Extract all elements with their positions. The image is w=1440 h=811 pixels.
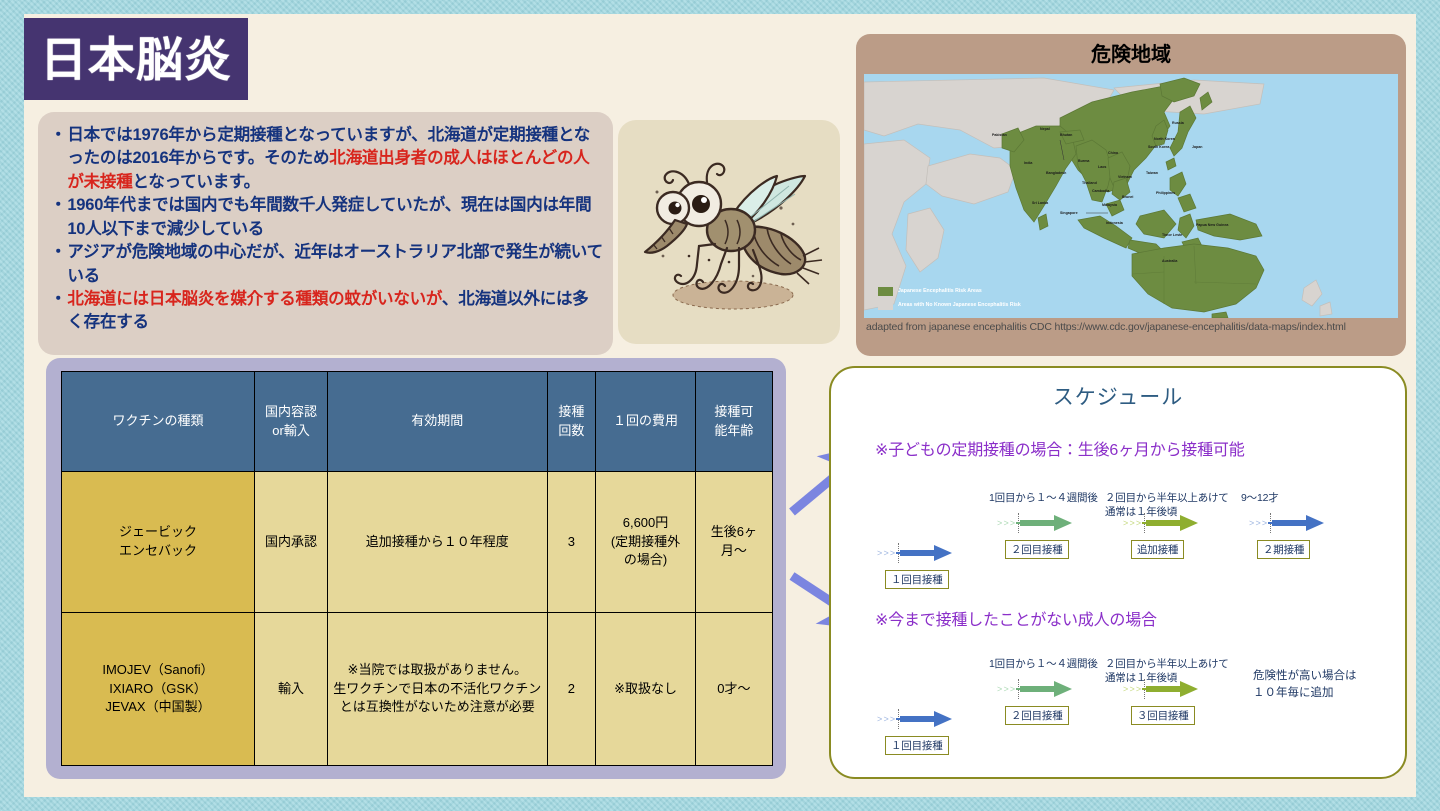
map-label: Bhutan — [1060, 133, 1072, 137]
table-body: ジェービックエンセバック国内承認追加接種から１０年程度36,600円(定期接種外… — [62, 472, 773, 766]
cell-line: IXIARO（GSK） — [65, 680, 251, 699]
map-label: Vietnam — [1118, 175, 1132, 179]
schedule-step-label: 追加接種 — [1131, 540, 1184, 559]
cell-vaccine-name: IMOJEV（Sanofi）IXIARO（GSK）JEVAX（中国製） — [62, 612, 255, 765]
key-fact-text: 1960年代までは国内でも年間数千人発症していたが、現在は国内は年間10人以下ま… — [67, 194, 603, 241]
legend-label-no-risk: Areas with No Known Japanese Encephaliti… — [898, 302, 1021, 308]
schedule-step-box: ３回目接種 — [1123, 706, 1273, 725]
chevron-right-icon: >>> — [1249, 518, 1268, 528]
legend-swatch-no-risk-icon — [878, 301, 893, 310]
chevron-right-icon: >>> — [877, 548, 896, 558]
timeline-tick-icon — [1144, 513, 1145, 533]
legend-label-risk: Japanese Encephalitis Risk Areas — [898, 288, 982, 294]
risk-map-card: 危険地域 — [856, 34, 1406, 356]
map-label: Sri Lanka — [1032, 201, 1049, 205]
timeline-tick-icon — [898, 543, 899, 563]
schedule-step: 9〜12才>>>２期接種 — [1249, 478, 1399, 559]
map-label: Singapore — [1060, 211, 1078, 215]
header-line: 回数 — [551, 422, 593, 441]
cell-line: 3 — [551, 533, 593, 552]
cell-line: エンセバック — [65, 542, 251, 561]
table-column-header: 接種回数 — [547, 372, 596, 472]
map-label: Nepal — [1040, 127, 1050, 131]
chevron-right-icon: >>> — [997, 684, 1016, 694]
map-label: Brunei — [1122, 195, 1133, 199]
schedule-step-box: １回目接種 — [877, 570, 1027, 589]
cell-line: (定期接種外 — [599, 533, 692, 552]
arrow-right-icon — [900, 545, 952, 561]
table-header-row: ワクチンの種類国内容認or輸入有効期間接種回数１回の費用接種可能年齢 — [62, 372, 773, 472]
chevron-right-icon: >>> — [877, 714, 896, 724]
map-label: Taiwan — [1146, 171, 1158, 175]
map-label: North Korea — [1154, 137, 1176, 141]
map-label: Bangladesh — [1046, 171, 1066, 175]
cell-line: 国内承認 — [258, 533, 324, 552]
vaccine-table-panel: ワクチンの種類国内容認or輸入有効期間接種回数１回の費用接種可能年齢 ジェービッ… — [46, 358, 786, 779]
chevron-right-icon: >>> — [997, 518, 1016, 528]
map-label: Papua New Guinea — [1196, 223, 1229, 227]
arrow-right-icon — [1020, 515, 1072, 531]
cell-line: 6,600円 — [599, 514, 692, 533]
cell-approval: 国内承認 — [254, 472, 327, 613]
arrow-right-icon — [1272, 515, 1324, 531]
schedule-step: ２回目から半年以上あけて通常は１年後頃>>>３回目接種 — [1123, 644, 1273, 725]
chevron-right-icon: >>> — [1123, 684, 1142, 694]
cell-duration: 追加接種から１０年程度 — [328, 472, 547, 613]
table-column-header: 有効期間 — [328, 372, 547, 472]
cell-age: 0才〜 — [695, 612, 772, 765]
cell-line: 月〜 — [699, 542, 769, 561]
map-label: Burma — [1078, 159, 1090, 163]
map-label: Australia — [1162, 259, 1178, 263]
key-fact-text: アジアが危険地域の中心だが、近年はオーストラリア北部で発生が続いている — [67, 241, 603, 288]
cell-line: 0才〜 — [699, 680, 769, 699]
note-line: 9〜12才 — [1241, 491, 1407, 505]
map-label: Philippines — [1156, 191, 1175, 195]
table-row: ジェービックエンセバック国内承認追加接種から１０年程度36,600円(定期接種外… — [62, 472, 773, 613]
map-label: Cambodia — [1092, 189, 1110, 193]
adult-schedule-heading: ※今まで接種したことがない成人の場合 — [875, 606, 1157, 630]
risk-map-image: Pakistan Nepal Bhutan India Burma Bangla… — [864, 74, 1398, 318]
map-label: Pakistan — [992, 133, 1007, 137]
cell-line: 輸入 — [258, 680, 324, 699]
key-fact-item: ・日本では1976年から定期接種となっていますが、北海道が定期接種となったのは2… — [50, 124, 603, 194]
table-row: IMOJEV（Sanofi）IXIARO（GSK）JEVAX（中国製）輸入※当院… — [62, 612, 773, 765]
header-line: 国内容認 — [258, 403, 324, 422]
cell-line: 2 — [551, 680, 593, 699]
bullet-marker-icon: ・ — [50, 194, 67, 217]
cell-line: 生後6ヶ — [699, 523, 769, 542]
cell-line: 生ワクチンで日本の不活化ワクチン — [331, 680, 543, 699]
cell-doses: 2 — [547, 612, 596, 765]
header-line: 接種 — [551, 403, 593, 422]
schedule-arrow-row: >>> — [1249, 512, 1399, 534]
schedule-step-label: ２期接種 — [1257, 540, 1310, 559]
cell-line: 追加接種から１０年程度 — [331, 533, 543, 552]
arrow-right-icon — [1146, 515, 1198, 531]
legend-item-risk: Japanese Encephalitis Risk Areas — [878, 287, 1021, 296]
slide-canvas: 日本脳炎 ・日本では1976年から定期接種となっていますが、北海道が定期接種とな… — [24, 14, 1416, 797]
cell-doses: 3 — [547, 472, 596, 613]
schedule-step-label: ２回目接種 — [1005, 540, 1069, 559]
key-fact-item: ・1960年代までは国内でも年間数千人発症していたが、現在は国内は年間10人以下… — [50, 194, 603, 241]
header-line: 接種可 — [699, 403, 769, 422]
child-schedule-heading: ※子どもの定期接種の場合：生後6ヶ月から接種可能 — [875, 436, 1245, 460]
key-fact-item: ・北海道には日本脳炎を媒介する種類の蚊がいないが、北海道以外には多く存在する — [50, 288, 603, 335]
schedule-step-label: ２回目接種 — [1005, 706, 1069, 725]
child-schedule-timeline: >>>１回目接種1回目から１〜４週間後>>>２回目接種２回目から半年以上あけて通… — [831, 478, 1405, 568]
plain-text: アジアが危険地域の中心だが、近年はオーストラリア北部で発生が続いている — [67, 243, 603, 284]
header-line: ワクチンの種類 — [65, 412, 251, 431]
chevron-right-icon: >>> — [1123, 518, 1142, 528]
map-label: Timor Leste — [1162, 233, 1182, 237]
bullet-marker-icon: ・ — [50, 124, 67, 147]
header-line: 能年齢 — [699, 422, 769, 441]
map-label: Russia — [1172, 121, 1185, 125]
bullet-marker-icon: ・ — [50, 288, 67, 311]
schedule-panel: スケジュール ※子どもの定期接種の場合：生後6ヶ月から接種可能 >>>１回目接種… — [829, 366, 1407, 779]
table-header: ワクチンの種類国内容認or輸入有効期間接種回数１回の費用接種可能年齢 — [62, 372, 773, 472]
adult-schedule-timeline: >>>１回目接種1回目から１〜４週間後>>>２回目接種２回目から半年以上あけて通… — [831, 644, 1405, 734]
schedule-step-label: １回目接種 — [885, 736, 949, 755]
timeline-tick-icon — [1018, 513, 1019, 533]
arrow-right-icon — [900, 711, 952, 727]
arrow-right-icon — [1146, 681, 1198, 697]
schedule-title: スケジュール — [831, 368, 1405, 411]
cell-approval: 輸入 — [254, 612, 327, 765]
bullet-marker-icon: ・ — [50, 241, 67, 264]
map-source-caption: adapted from japanese encephalitis CDC h… — [864, 318, 1398, 333]
cell-line: ジェービック — [65, 523, 251, 542]
key-fact-text: 日本では1976年から定期接種となっていますが、北海道が定期接種となったのは20… — [67, 124, 603, 194]
timeline-tick-icon — [1018, 679, 1019, 699]
timeline-tick-icon — [1270, 513, 1271, 533]
map-label: Malaysia — [1102, 203, 1118, 207]
highlighted-text: 北海道には日本脳炎を媒介する種類の蚊がいないが — [67, 290, 442, 308]
header-line: or輸入 — [258, 422, 324, 441]
cell-line: とは互換性がないため注意が必要 — [331, 698, 543, 717]
legend-swatch-risk-icon — [878, 287, 893, 296]
mosquito-icon — [629, 132, 829, 332]
table-column-header: １回の費用 — [596, 372, 696, 472]
table-column-header: ワクチンの種類 — [62, 372, 255, 472]
map-label: Laos — [1098, 165, 1106, 169]
page-title: 日本脳炎 — [40, 36, 232, 83]
tail-note-line: １０年毎に追加 — [1253, 685, 1357, 702]
cell-vaccine-name: ジェービックエンセバック — [62, 472, 255, 613]
page-title-banner: 日本脳炎 — [24, 18, 248, 100]
legend-item-no-risk: Areas with No Known Japanese Encephaliti… — [878, 301, 1021, 310]
vaccine-table: ワクチンの種類国内容認or輸入有効期間接種回数１回の費用接種可能年齢 ジェービッ… — [61, 371, 773, 766]
cell-duration: ※当院では取扱がありません。生ワクチンで日本の不活化ワクチンとは互換性がないため… — [328, 612, 547, 765]
schedule-arrow-row: >>> — [1123, 678, 1273, 700]
key-facts-panel: ・日本では1976年から定期接種となっていますが、北海道が定期接種となったのは2… — [38, 112, 613, 355]
map-title: 危険地域 — [864, 40, 1398, 74]
schedule-step-box: １回目接種 — [877, 736, 1027, 755]
cell-line: の場合) — [599, 551, 692, 570]
schedule-tail-note: 危険性が高い場合は１０年毎に追加 — [1253, 668, 1357, 703]
timeline-tick-icon — [1144, 679, 1145, 699]
cell-cost: ※取扱なし — [596, 612, 696, 765]
table-column-header: 接種可能年齢 — [695, 372, 772, 472]
map-label: Indonesia — [1106, 221, 1124, 225]
mosquito-illustration-card — [618, 120, 840, 344]
map-label: Thailand — [1082, 181, 1097, 185]
cell-age: 生後6ヶ月〜 — [695, 472, 772, 613]
header-line: 有効期間 — [331, 412, 543, 431]
schedule-step-label: １回目接種 — [885, 570, 949, 589]
cell-line: JEVAX（中国製） — [65, 698, 251, 717]
map-label: South Korea — [1148, 145, 1170, 149]
cell-cost: 6,600円(定期接種外の場合) — [596, 472, 696, 613]
key-fact-item: ・アジアが危険地域の中心だが、近年はオーストラリア北部で発生が続いている — [50, 241, 603, 288]
plain-text: 1960年代までは国内でも年間数千人発症していたが、現在は国内は年間10人以下ま… — [67, 196, 591, 237]
schedule-step-label: ３回目接種 — [1131, 706, 1195, 725]
map-label: India — [1024, 161, 1033, 165]
key-fact-text: 北海道には日本脳炎を媒介する種類の蚊がいないが、北海道以外には多く存在する — [67, 288, 603, 335]
map-legend: Japanese Encephalitis Risk Areas Areas w… — [878, 282, 1021, 310]
cell-line: ※当院では取扱がありません。 — [331, 661, 543, 680]
table-column-header: 国内容認or輸入 — [254, 372, 327, 472]
cell-line: IMOJEV（Sanofi） — [65, 661, 251, 680]
plain-text: となっています。 — [133, 173, 260, 191]
schedule-step-box: ２期接種 — [1249, 540, 1399, 559]
timeline-tick-icon — [898, 709, 899, 729]
map-label: China — [1108, 151, 1119, 155]
map-label: Japan — [1192, 145, 1202, 149]
arrow-right-icon — [1020, 681, 1072, 697]
tail-note-line: 危険性が高い場合は — [1253, 668, 1357, 685]
cell-line: ※取扱なし — [599, 680, 692, 699]
header-line: １回の費用 — [599, 412, 692, 431]
